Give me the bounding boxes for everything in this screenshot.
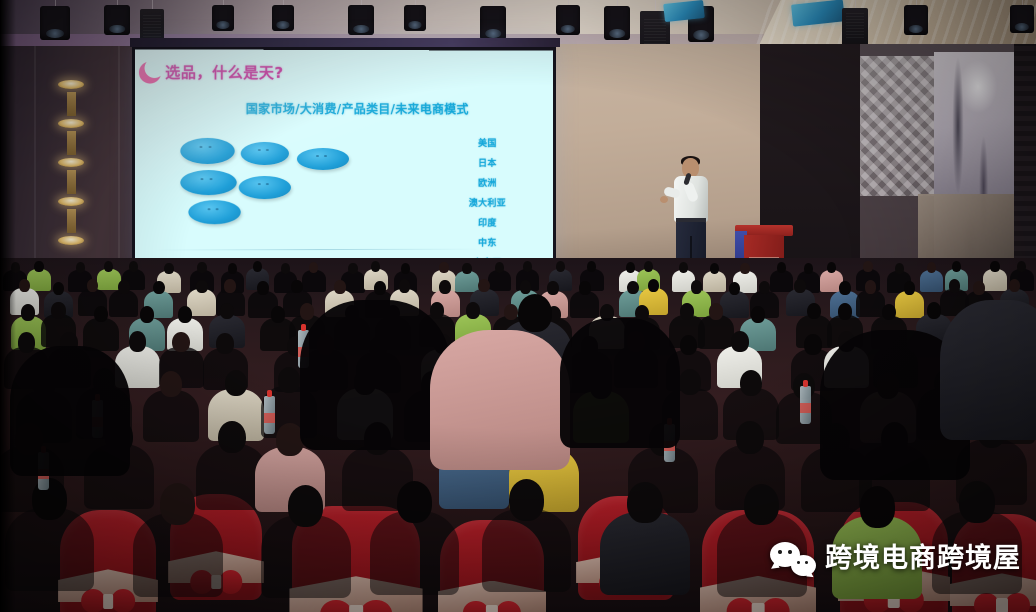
audience-member-head <box>709 303 723 320</box>
audience-member-head <box>644 261 653 272</box>
audience-member-head <box>1017 261 1026 272</box>
audience-member-torso <box>27 269 51 291</box>
light-lens <box>46 29 64 39</box>
audience-member-torso <box>133 513 223 596</box>
water-bottle <box>264 396 275 434</box>
stage-light <box>212 5 234 31</box>
slide-logo-icon <box>139 61 161 83</box>
audience-foreground-silhouette <box>430 330 570 470</box>
audience-member-torso <box>703 271 727 293</box>
audience-member-head <box>253 261 262 272</box>
audience-member-head <box>627 482 662 524</box>
audience-member-torso <box>895 291 924 318</box>
audience-member-head <box>348 263 357 274</box>
audience-member-head <box>627 281 638 295</box>
audience-member-head <box>587 261 596 272</box>
audience-member-head <box>140 306 154 323</box>
audience-member-head <box>509 479 544 521</box>
slide-country-item: 美国 <box>478 136 497 149</box>
audience-member-head <box>257 281 268 295</box>
light-lens <box>109 25 125 33</box>
audience-member-head <box>959 481 994 523</box>
conference-photo: 选品，什么是天? 国家市场/大消费/产品类目/未来电商模式 美国日本欧洲澳大利亚… <box>0 0 1036 612</box>
slide-bubble-diagram <box>180 138 371 228</box>
audience-member-torso <box>302 270 326 292</box>
chair-bow <box>81 589 135 612</box>
slide-bubble <box>180 138 234 164</box>
audience-member-head <box>196 280 207 294</box>
audience-member-head <box>439 280 450 294</box>
audience-member-head <box>648 279 659 293</box>
light-lens <box>909 25 923 33</box>
light-lens <box>609 29 625 39</box>
slide-bubble <box>241 142 289 165</box>
audience-member-head <box>271 306 285 323</box>
audience-member-head <box>680 303 694 320</box>
slide-bubble <box>188 200 240 224</box>
audience-member-torso <box>983 269 1007 291</box>
light-lens <box>1015 23 1029 31</box>
audience-member-head <box>371 261 380 272</box>
audience-member-head <box>804 263 813 274</box>
watermark: 跨境电商跨境屋 <box>770 542 1021 576</box>
audience-member-torso <box>570 291 599 318</box>
audience-member-torso <box>698 315 734 348</box>
gold-sconce-icon <box>58 80 84 245</box>
audience-member-head <box>927 262 936 273</box>
audience-member-head <box>397 481 432 523</box>
audience-member-head <box>839 281 850 295</box>
audience-member-head <box>680 335 698 356</box>
audience-member-head <box>87 279 98 293</box>
audience-member-head <box>288 485 323 527</box>
audience-member-head <box>523 261 532 272</box>
audience-member-head <box>904 281 915 295</box>
stage-light <box>404 5 426 31</box>
audience-member-head <box>520 280 531 294</box>
audience-member-head <box>777 262 786 273</box>
audience-member-head <box>751 306 765 323</box>
audience-member-head <box>990 261 999 272</box>
audience-member-head <box>197 262 206 273</box>
chair-bow <box>974 593 1030 612</box>
audience-member-head <box>740 370 762 396</box>
audience-member-head <box>291 280 302 294</box>
slide-country-item: 日本 <box>478 156 497 169</box>
audience-member-head <box>927 302 941 319</box>
light-lens <box>561 25 575 33</box>
audience-member-head <box>504 304 518 321</box>
chair-bow <box>320 600 392 612</box>
slide-country-item: 澳大利亚 <box>469 196 506 209</box>
audience-member-head <box>153 281 164 295</box>
left-dark-edge <box>0 0 16 612</box>
slide-divider <box>153 249 483 251</box>
audience-member-torso <box>83 318 119 351</box>
slide-subtitle: 国家市场/大消费/产品类目/未来电商模式 <box>246 100 469 117</box>
slide-country-item: 印度 <box>478 216 497 229</box>
audience-member-head <box>129 261 138 272</box>
audience-member-head <box>334 280 345 294</box>
audience-member-torso <box>109 290 138 317</box>
audience-member-head <box>827 262 836 273</box>
audience-member-head <box>804 334 822 355</box>
audience-member-head <box>430 302 444 319</box>
audience-member-torso <box>600 512 690 595</box>
audience-member-torso <box>143 390 199 442</box>
audience-member-head <box>949 279 960 293</box>
stage-light <box>348 5 374 35</box>
audience-member-head <box>679 369 701 395</box>
projection-screen: 选品，什么是天? 国家市场/大消费/产品类目/未来电商模式 美国日本欧洲澳大利亚… <box>135 49 553 272</box>
light-lens <box>408 21 421 28</box>
audience-member-head <box>579 281 590 295</box>
audience-member-torso <box>97 269 121 291</box>
audience-foreground-silhouette <box>10 346 130 476</box>
audience-member-head <box>172 332 190 353</box>
audience-member-head <box>164 263 173 274</box>
chair-bow <box>727 598 790 612</box>
audience-member-head <box>466 302 480 319</box>
slide-bubble <box>239 176 291 199</box>
audience-member-head <box>973 281 984 295</box>
presenter-belt <box>676 218 706 222</box>
light-lens <box>693 30 709 40</box>
presenter-left-hand <box>660 196 668 203</box>
audience-member-head <box>228 263 237 274</box>
stage-light <box>556 5 580 35</box>
audience-member-head <box>374 281 385 295</box>
audience-member-torso <box>856 290 885 317</box>
audience-member-head <box>895 263 904 274</box>
audience-member-head <box>401 263 410 274</box>
audience-member-head <box>34 261 43 272</box>
light-lens <box>216 21 229 28</box>
audience-member-head <box>518 294 552 332</box>
audience-member-head <box>160 483 195 525</box>
light-lens <box>276 21 289 28</box>
audience-member-head <box>736 421 764 454</box>
audience-member-head <box>129 331 147 352</box>
slide-title: 选品，什么是天? <box>165 62 283 83</box>
audience-member-head <box>225 370 247 396</box>
audience-member-torso <box>482 509 572 592</box>
audience-member-head <box>838 303 852 320</box>
presenter <box>660 158 722 270</box>
stage-light <box>480 6 506 40</box>
audience-member-head <box>216 333 234 354</box>
audience-member-head <box>94 306 108 323</box>
audience-member-head <box>18 332 36 353</box>
audience-member-torso <box>370 511 460 594</box>
audience-member-head <box>1009 279 1020 293</box>
audience-member-head <box>863 261 872 272</box>
wechat-icon <box>770 542 816 576</box>
audience-member-head <box>21 304 35 321</box>
audience-foreground-silhouette <box>300 300 450 450</box>
audience-member-head <box>53 282 64 296</box>
audience-member-head <box>731 331 749 352</box>
audience-foreground-silhouette <box>560 318 680 448</box>
audience-member-head <box>19 279 30 293</box>
audience-member-torso <box>261 515 351 598</box>
audience-member-head <box>744 484 779 526</box>
audience-member-head <box>626 262 635 273</box>
audience-member-head <box>462 263 471 274</box>
slide-country-item: 欧洲 <box>478 176 497 189</box>
audience-member-head <box>710 263 719 274</box>
audience-member-head <box>794 279 805 293</box>
audience-member-head <box>547 281 558 295</box>
audience-member-torso <box>488 270 512 292</box>
slide-country-item: 中东 <box>478 236 497 249</box>
audience-member-head <box>218 421 246 454</box>
stage-light <box>272 5 294 31</box>
stage-light <box>104 5 130 35</box>
audience-member-head <box>556 261 565 272</box>
light-lens <box>485 29 501 39</box>
audience-member-head <box>51 302 65 319</box>
audience-member-head <box>399 279 410 293</box>
audience-member-head <box>178 306 192 323</box>
chair-bow <box>463 601 521 612</box>
audience-member-torso <box>920 270 944 292</box>
audience-member-head <box>118 280 129 294</box>
audience-member-head <box>691 280 702 294</box>
audience-member-head <box>807 303 821 320</box>
audience-member-head <box>759 281 770 295</box>
stage-light <box>1010 5 1034 33</box>
watermark-text: 跨境电商跨境屋 <box>825 544 1021 574</box>
light-lens <box>353 25 369 33</box>
stage-light <box>604 6 630 40</box>
audience-member-head <box>679 262 688 273</box>
audience-member-head <box>300 303 314 320</box>
stage-light <box>40 6 70 40</box>
audience-member-head <box>160 371 182 397</box>
audience-member-head <box>495 262 504 273</box>
audience-member-head <box>729 282 740 296</box>
audience-member-head <box>278 367 300 393</box>
audience-member-torso <box>720 291 749 318</box>
audience-member-head <box>740 263 749 274</box>
audience-foreground-silhouette <box>940 300 1036 440</box>
audience-member-head <box>439 262 448 273</box>
audience-member-head <box>952 261 961 272</box>
audience-member-head <box>224 279 235 293</box>
audience-member-head <box>104 261 113 272</box>
audience-member-torso <box>5 508 95 591</box>
audience-member-head <box>478 279 489 293</box>
audience-member-head <box>882 304 896 321</box>
water-bottle <box>800 386 811 424</box>
audience-member-torso <box>455 271 479 293</box>
audience-member-torso <box>770 270 794 292</box>
slide-bubble <box>297 148 349 170</box>
audience-member-head <box>865 280 876 294</box>
slide-bubble <box>180 170 236 195</box>
stage-light <box>904 5 928 35</box>
audience-member-head <box>860 486 895 528</box>
screen-top-bar <box>130 38 560 47</box>
audience-member-head <box>76 262 85 273</box>
